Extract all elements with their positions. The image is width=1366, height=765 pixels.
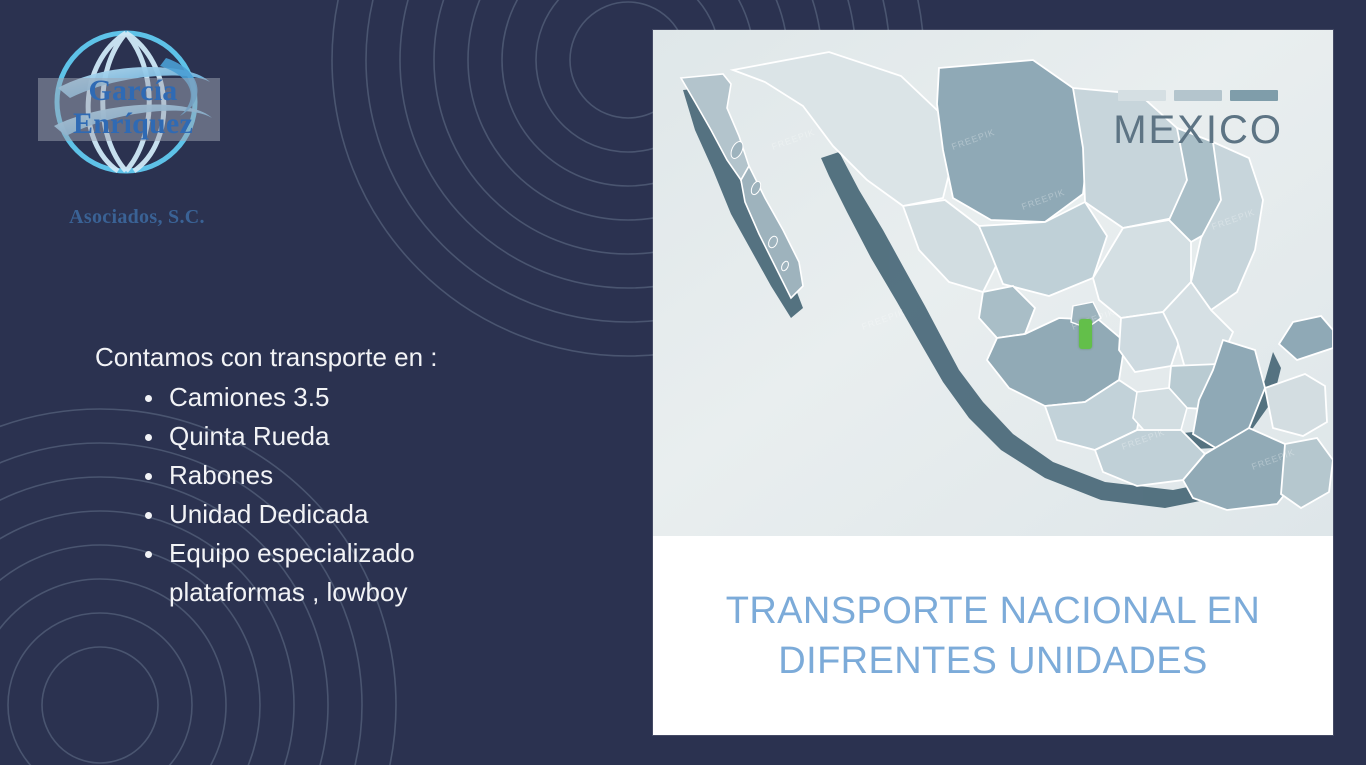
map-card: FREEPIK FREEPIK FREEPIK FREEPIK FREEPIK … [653,30,1333,735]
logo-name-line2: Enríquez [38,107,228,140]
list-item: Quinta Rueda [141,417,565,456]
map-legend-swatch-1 [1118,90,1166,101]
list-item-label: Equipo especializado [169,538,415,568]
map-legend [1118,90,1278,101]
caption-line2: DIFRENTES UNIDADES [688,636,1298,686]
company-logo: García Enríquez Asociados, S.C. [22,18,282,233]
logo-company-name: García Enríquez [38,74,228,140]
list-item-label: Quinta Rueda [169,421,329,451]
list-item-label: Unidad Dedicada [169,499,368,529]
list-item: Unidad Dedicada [141,495,565,534]
transport-copy-block: Contamos con transporte en : Camiones 3.… [95,340,565,612]
map-legend-swatch-3 [1230,90,1278,101]
city-marker[interactable] [1079,319,1092,349]
mexico-map-panel: FREEPIK FREEPIK FREEPIK FREEPIK FREEPIK … [653,30,1333,536]
list-item-label: Camiones 3.5 [169,382,329,412]
map-country-label: MEXICO [1113,108,1283,153]
list-item-label-continued: plataformas , lowboy [169,573,565,612]
list-item: Rabones [141,456,565,495]
logo-subtitle: Asociados, S.C. [32,206,242,229]
slide-root: García Enríquez Asociados, S.C. Contamos… [0,0,1366,765]
list-item-label: Rabones [169,460,273,490]
list-item: Equipo especializado plataformas , lowbo… [141,534,565,612]
copy-heading: Contamos con transporte en : [95,340,565,374]
caption-text: TRANSPORTE NACIONAL EN DIFRENTES UNIDADE… [688,586,1298,686]
list-item: Camiones 3.5 [141,378,565,417]
transport-bullet-list: Camiones 3.5 Quinta Rueda Rabones Unidad… [141,378,565,612]
card-caption: TRANSPORTE NACIONAL EN DIFRENTES UNIDADE… [653,536,1333,735]
mexico-map-graphic: FREEPIK FREEPIK FREEPIK FREEPIK FREEPIK … [653,30,1333,536]
caption-line1: TRANSPORTE NACIONAL EN [688,586,1298,636]
logo-name-line1: García [38,74,228,107]
map-legend-swatch-2 [1174,90,1222,101]
